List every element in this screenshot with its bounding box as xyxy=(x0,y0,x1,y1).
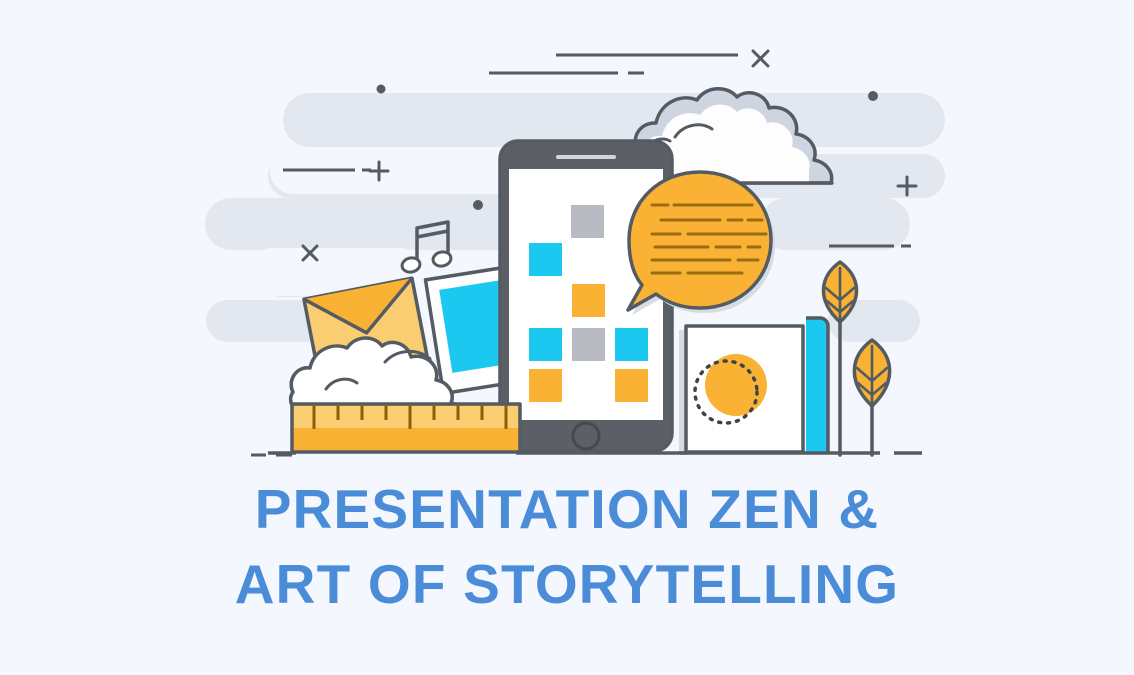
screen-square-cyan-2 xyxy=(529,328,562,361)
illustration-stage: PRESENTATION ZEN & ART OF STORYTELLING xyxy=(0,0,1134,675)
ruler xyxy=(292,404,520,452)
whiteboard-canvas xyxy=(679,326,803,452)
dot-top-right xyxy=(868,91,878,101)
cyan-bar xyxy=(806,318,828,454)
screen-square-cyan-3 xyxy=(615,328,648,361)
screen-square-orange-3 xyxy=(615,369,648,402)
title-line-2: ART OF STORYTELLING xyxy=(0,557,1134,612)
dot-mid-left xyxy=(473,200,483,210)
speech-bubble xyxy=(628,172,775,315)
page-title: PRESENTATION ZEN & ART OF STORYTELLING xyxy=(0,482,1134,612)
screen-square-orange-1 xyxy=(572,284,605,317)
dot-top-left xyxy=(377,85,386,94)
screen-square-gray-1 xyxy=(571,205,604,238)
screen-square-orange-2 xyxy=(529,369,562,402)
screen-square-gray-2 xyxy=(572,328,605,361)
screen-square-cyan-1 xyxy=(529,243,562,276)
title-line-1: PRESENTATION ZEN & xyxy=(0,482,1134,537)
